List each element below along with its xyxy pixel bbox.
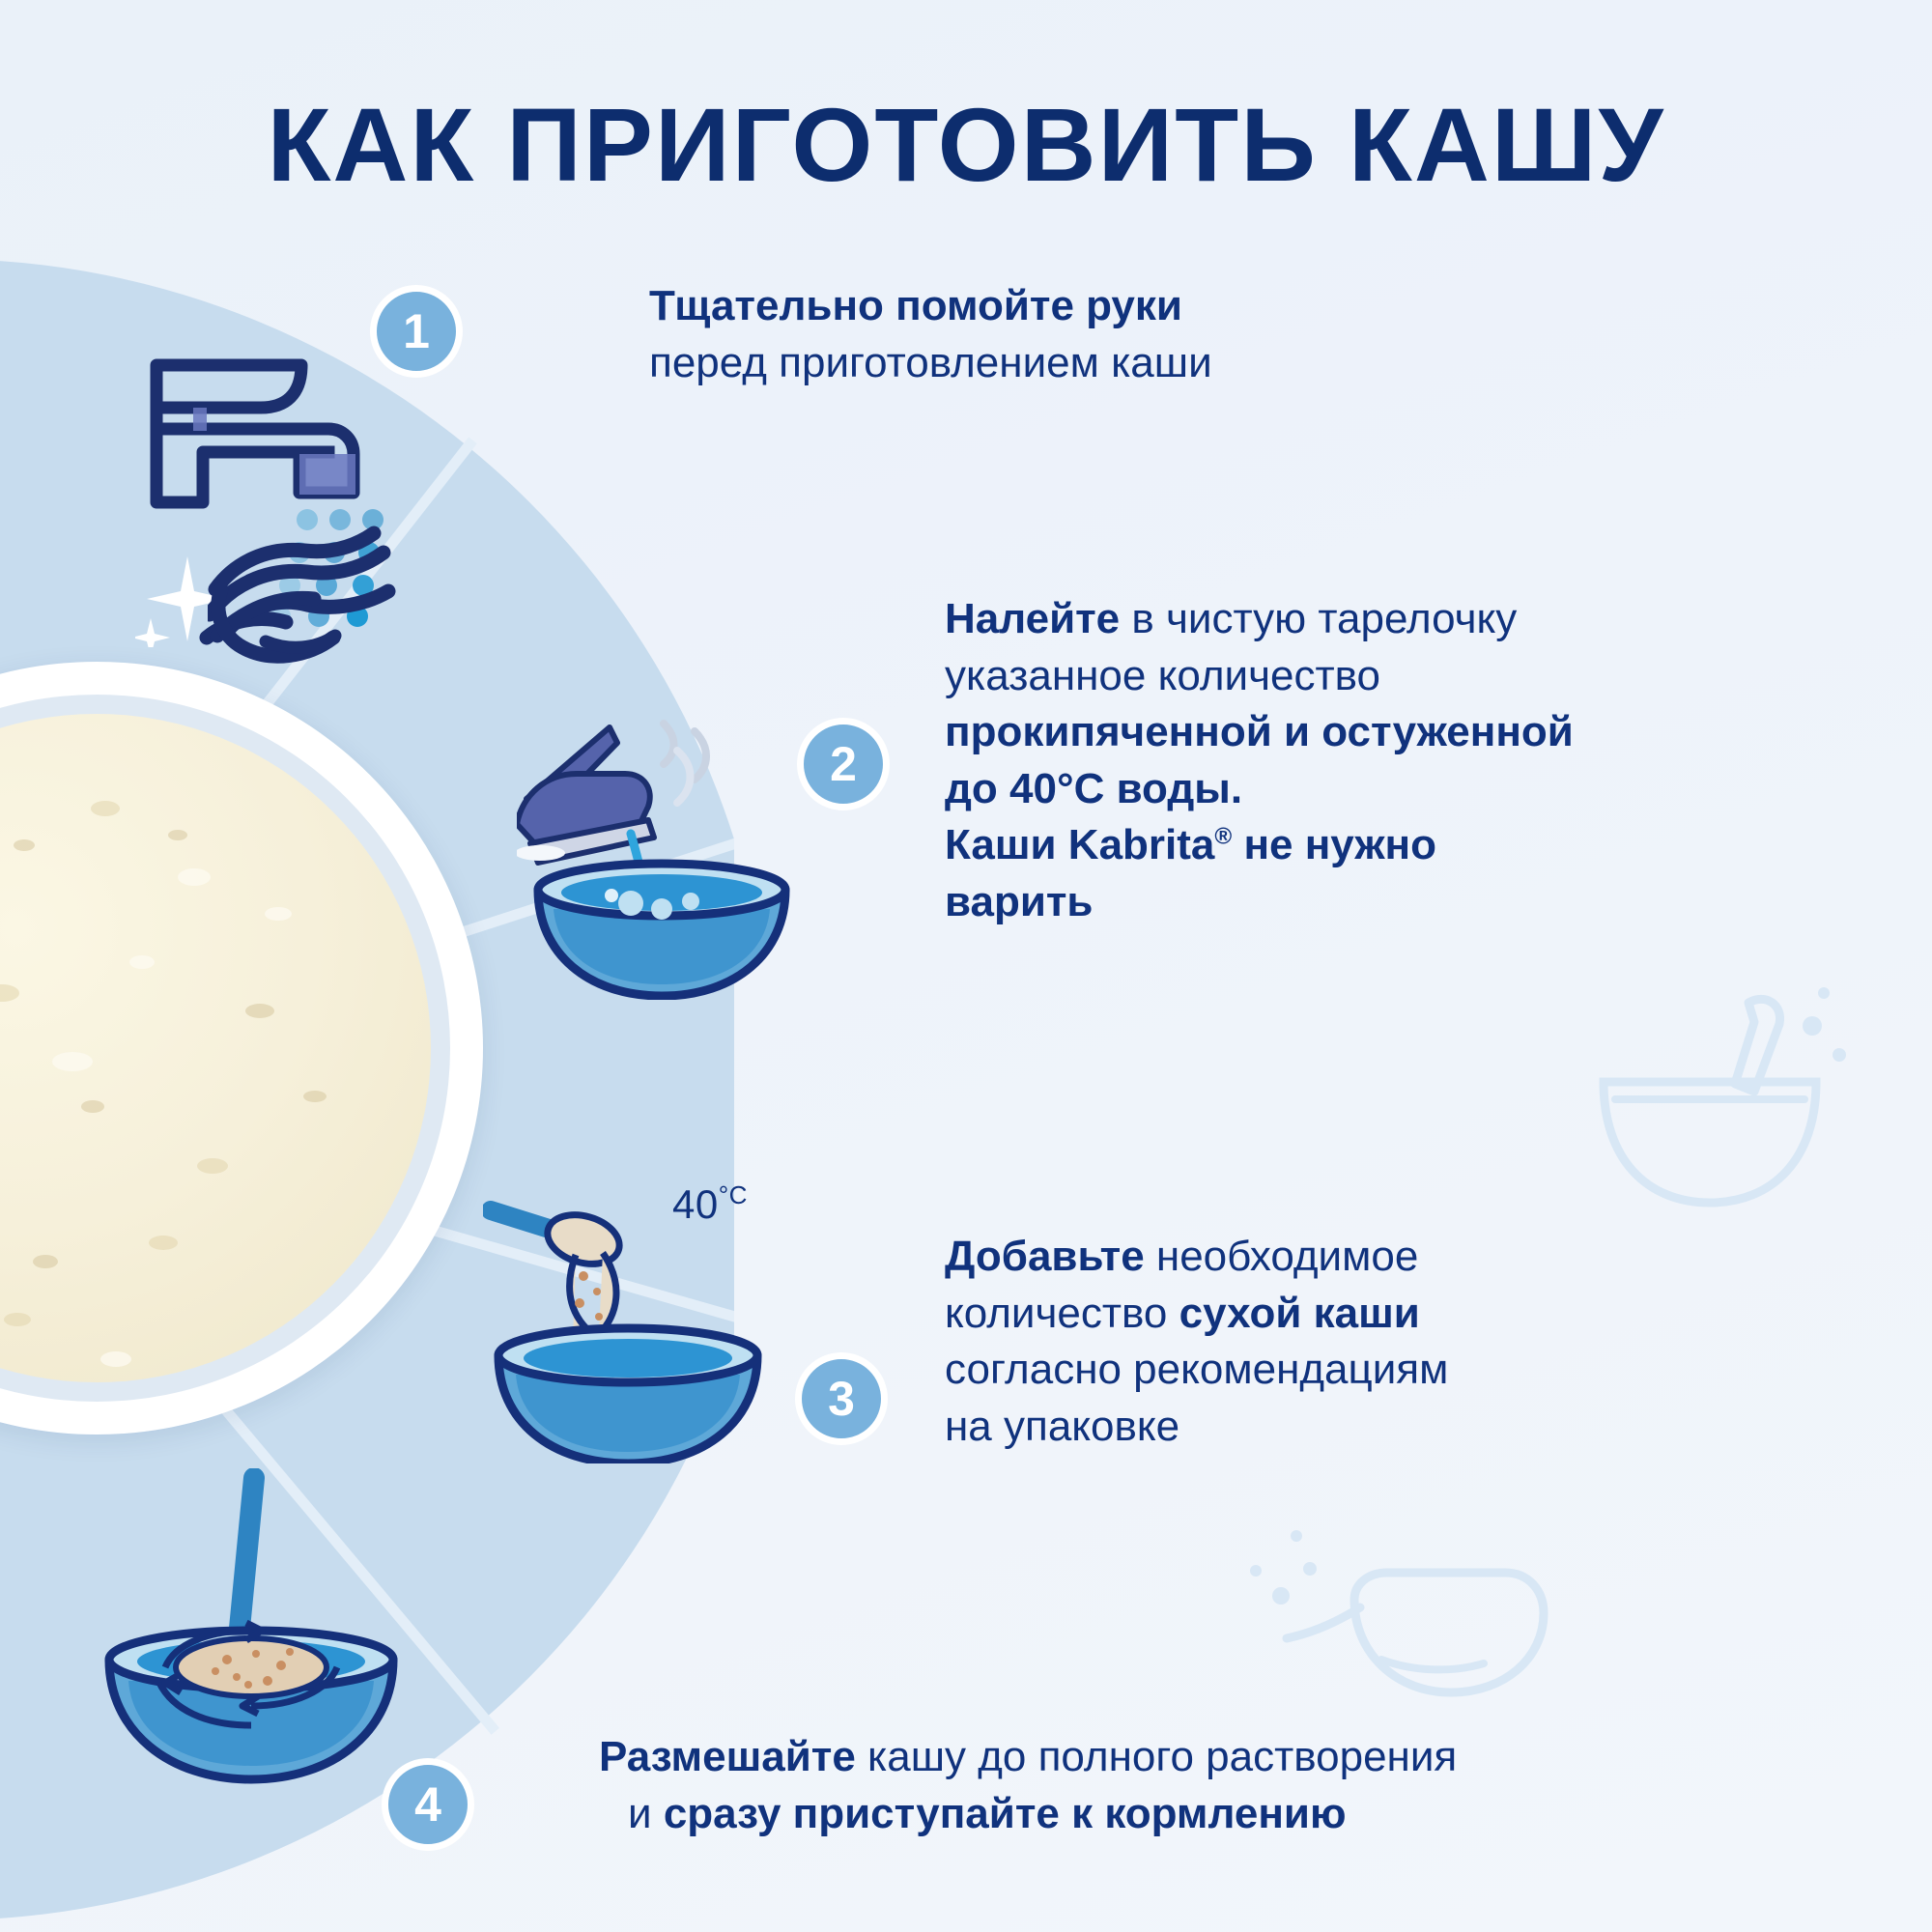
temperature-label: 40°C [672, 1180, 748, 1228]
step-badge-1-label: 1 [403, 307, 430, 355]
step-badge-2-label: 2 [830, 740, 857, 788]
step-1-text: Тщательно помойте руки перед приготовлен… [649, 278, 1596, 391]
step-2-line-1-rest: в чистую тарелочку [1120, 595, 1517, 642]
step-2-brand-suffix: не нужно [1232, 821, 1436, 868]
step-2-brand-prefix: Каши Kabrita [945, 821, 1214, 868]
step-4-line-1-bold: Размешайте [599, 1733, 856, 1780]
step-3-text: Добавьте необходимое количество сухой ка… [945, 1229, 1872, 1455]
step-3-line-2-bold: сухой каши [1179, 1290, 1420, 1337]
step-2-line-6: варить [945, 874, 1872, 931]
step-3-line-1-bold: Добавьте [945, 1233, 1145, 1280]
kettle-pouring-into-bowl-icon [517, 710, 807, 1000]
step-badge-4-label: 4 [414, 1780, 441, 1829]
measuring-scoop-watermark [1246, 1507, 1565, 1729]
step-badge-2: 2 [797, 718, 890, 810]
step-1-line-1: Тщательно помойте руки [649, 278, 1596, 335]
temperature-value: 40 [672, 1181, 719, 1227]
step-3-line-2-normal: количество [945, 1290, 1179, 1337]
step-4-line-1-rest: кашу до полного растворения [856, 1733, 1457, 1780]
step-badge-3: 3 [795, 1352, 888, 1445]
step-3-line-3: согласно рекомендациям [945, 1342, 1872, 1399]
temperature-unit: °C [719, 1180, 748, 1209]
step-3-line-2: количество сухой каши [945, 1286, 1872, 1343]
infographic-canvas: КАК ПРИГОТОВИТЬ КАШУ [0, 0, 1932, 1932]
step-badge-4: 4 [382, 1758, 474, 1851]
step-3-line-1: Добавьте необходимое [945, 1229, 1872, 1286]
washing-hands-lower-icon [208, 522, 449, 676]
step-4-line-2-bold: сразу приступайте к кормлению [664, 1790, 1347, 1837]
porridge-bowl-photo [0, 662, 483, 1435]
step-4-text: Размешайте кашу до полного растворения и… [599, 1729, 1893, 1842]
step-2-text: Налейте в чистую тарелочку указанное кол… [945, 591, 1872, 930]
step-2-line-3: прокипяченной и остуженной [945, 704, 1872, 761]
step-badge-3-label: 3 [828, 1375, 855, 1423]
step-4-line-2: и сразу приступайте к кормлению [628, 1786, 1893, 1843]
step-2-line-6-bold: варить [945, 878, 1093, 925]
step-2-line-5: Каши Kabrita® не нужно [945, 817, 1872, 874]
step-badge-1: 1 [370, 285, 463, 378]
step-2-line-3-bold: прокипяченной и остуженной [945, 708, 1574, 755]
step-3-line-1-rest: необходимое [1145, 1233, 1419, 1280]
step-4-line-1: Размешайте кашу до полного растворения [599, 1729, 1893, 1786]
stirring-bowl-with-spoon-icon [92, 1468, 411, 1787]
step-2-line-4-bold: до 40°C воды. [945, 765, 1242, 812]
registered-trademark-icon: ® [1214, 823, 1232, 849]
step-1-line-2: перед приготовлением каши [649, 335, 1596, 392]
step-2-line-4: до 40°C воды. [945, 761, 1872, 818]
step-2-line-2: указанное количество [945, 648, 1872, 705]
step-2-line-1: Налейте в чистую тарелочку [945, 591, 1872, 648]
step-2-line-1-bold: Налейте [945, 595, 1120, 642]
step-1-line-1-bold: Тщательно помойте руки [649, 282, 1182, 329]
step-4-line-2-normal: и [628, 1790, 664, 1837]
step-3-line-4: на упаковке [945, 1399, 1872, 1456]
bowl-and-spoon-watermark [1565, 976, 1855, 1227]
page-title: КАК ПРИГОТОВИТЬ КАШУ [0, 93, 1932, 197]
